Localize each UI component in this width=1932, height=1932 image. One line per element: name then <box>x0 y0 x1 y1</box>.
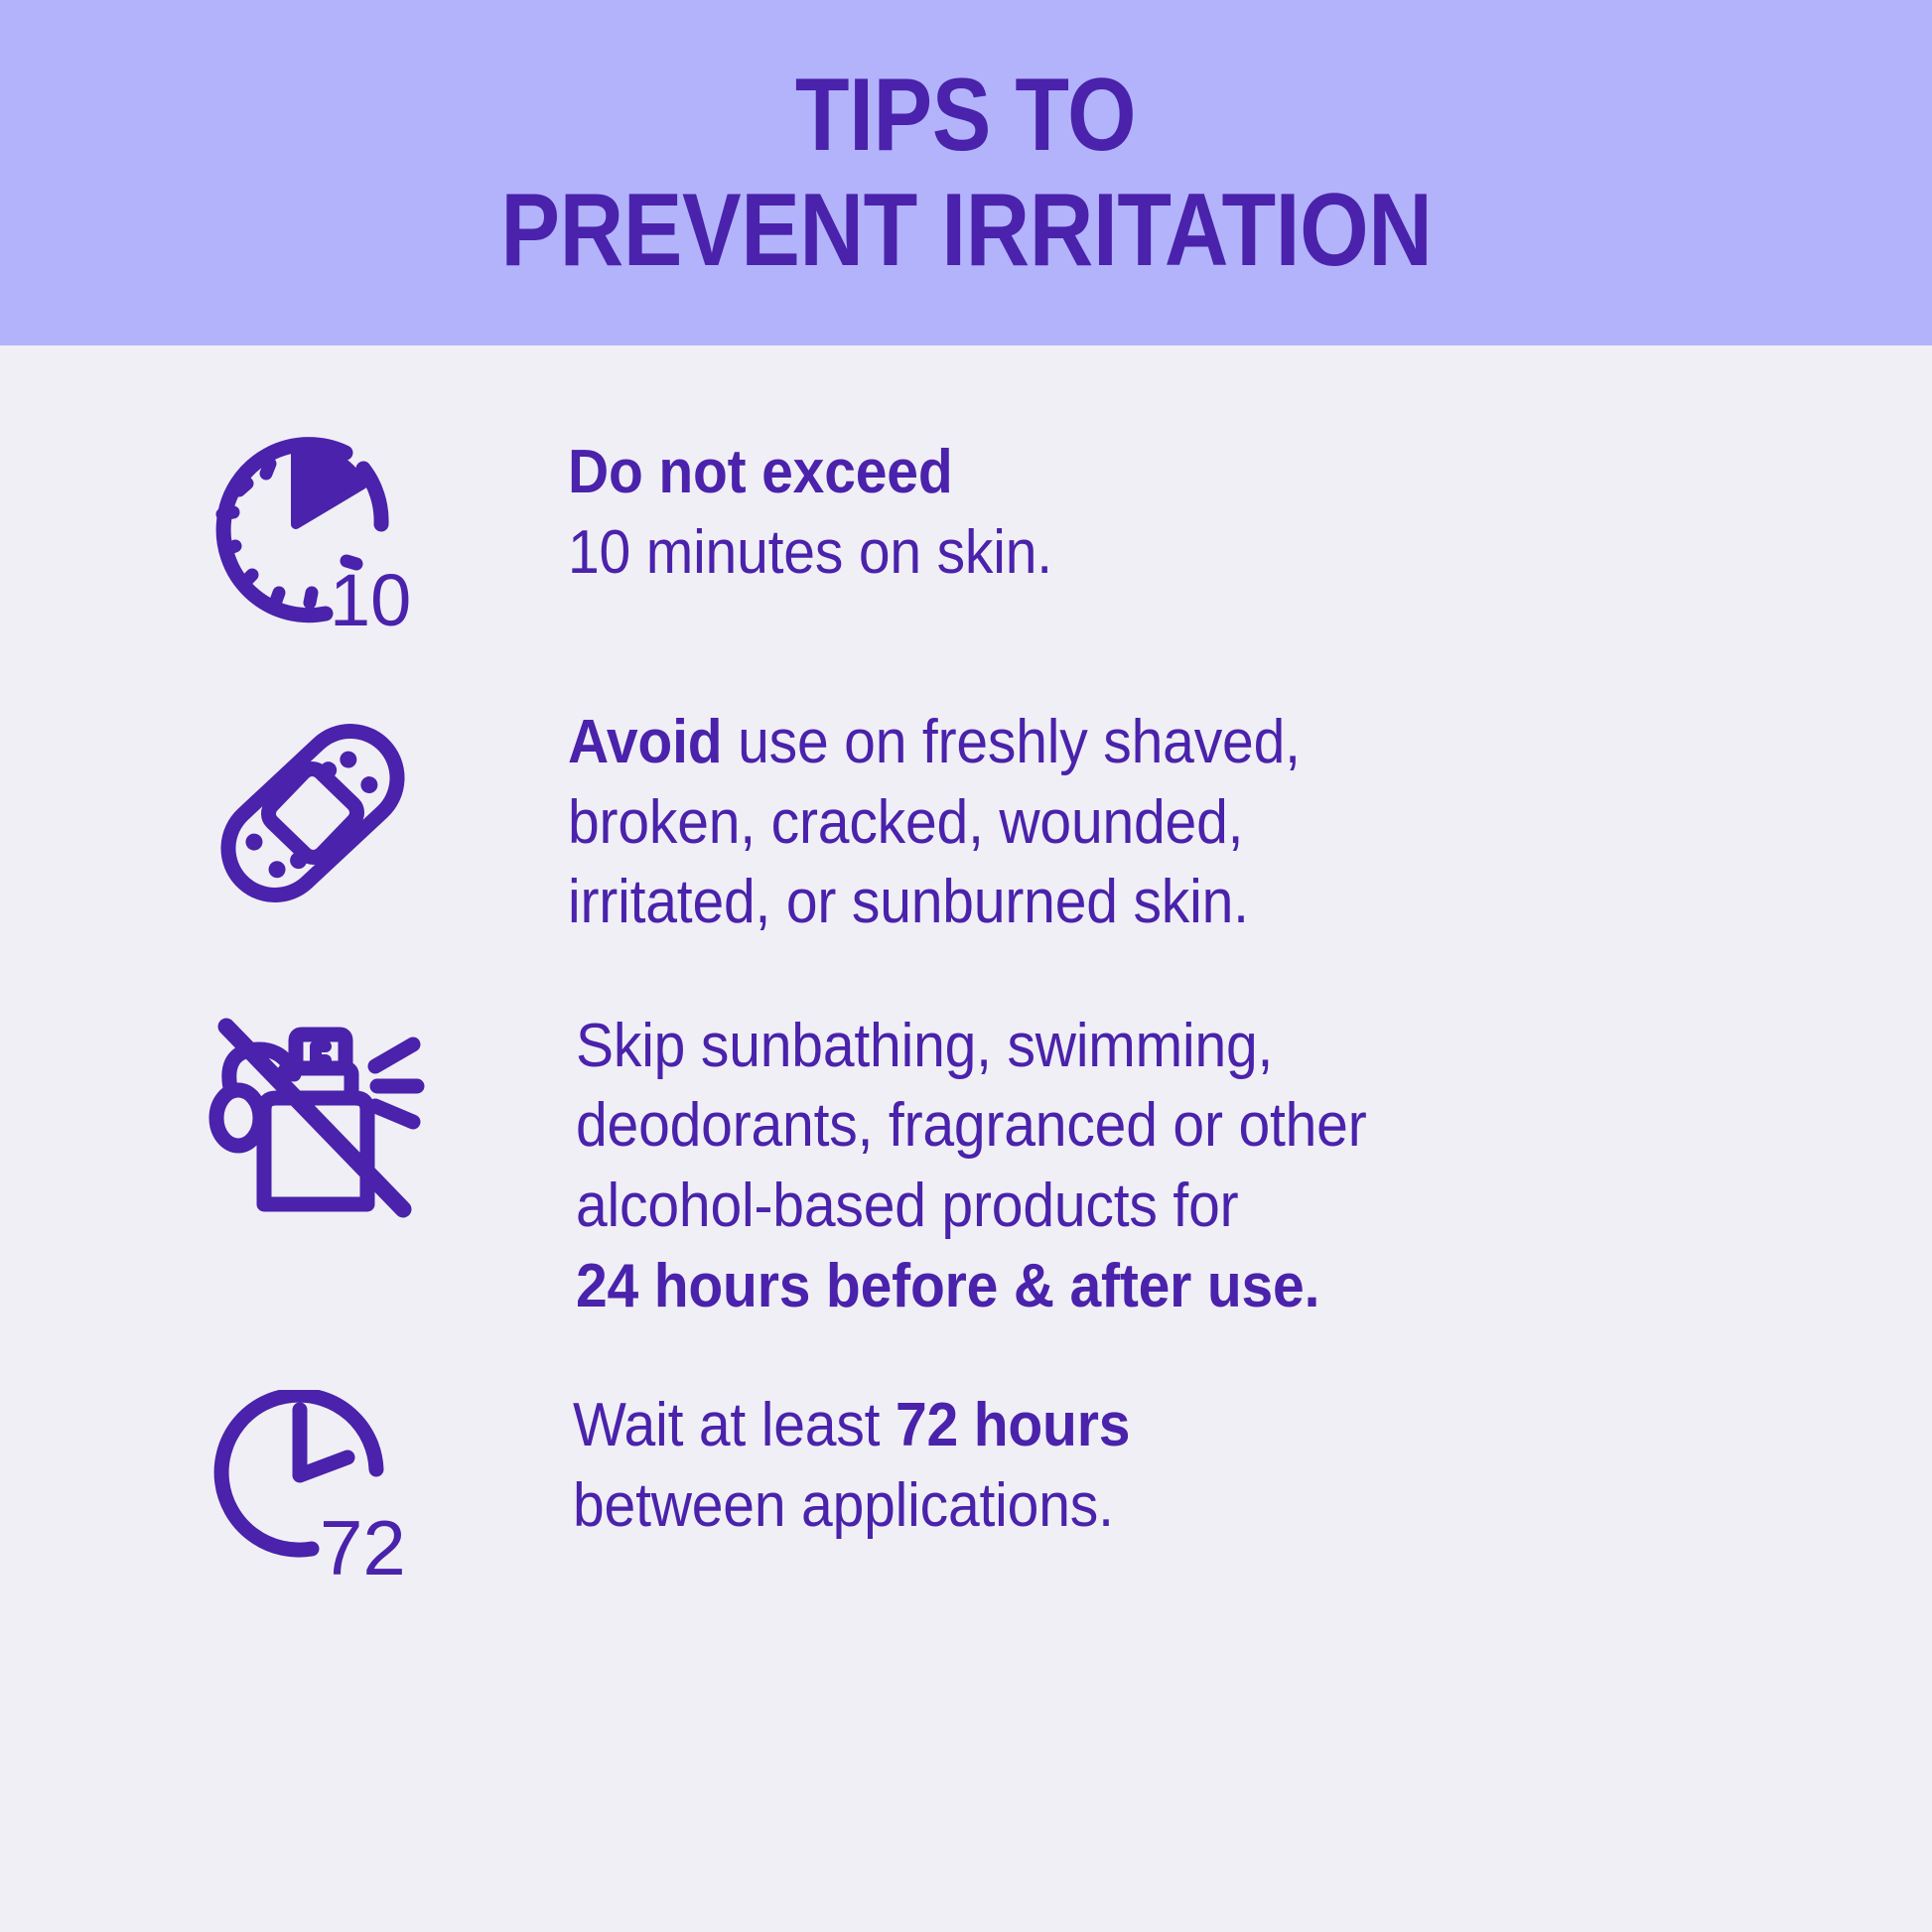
tip-item-wait-72-hours: 72 Wait at least 72 hours between applic… <box>149 1384 1783 1588</box>
tip-line: 10 minutes on skin. <box>568 513 1686 594</box>
tip-item-do-not-exceed: 10 Do not exceed 10 minutes on skin. <box>149 431 1783 635</box>
tip-line-bold: Avoid <box>568 708 722 776</box>
tip-line: broken, cracked, wounded, <box>568 783 1686 864</box>
tip-text-do-not-exceed: Do not exceed 10 minutes on skin. <box>568 433 1686 593</box>
tip-icon-cell <box>149 701 417 920</box>
stopwatch-badge-label: 10 <box>330 559 411 635</box>
tip-line: irritated, or sunburned skin. <box>568 863 1686 943</box>
tip-line-rest: use on freshly shaved, <box>722 708 1300 776</box>
page-title-line-1: TIPS TO <box>795 64 1136 167</box>
tip-line-bold: Do not exceed <box>568 438 952 506</box>
tip-item-avoid-broken-skin: Avoid use on freshly shaved, broken, cra… <box>149 701 1783 943</box>
tip-line: between applications. <box>573 1466 1686 1547</box>
tip-line-bold: 72 hours <box>896 1391 1130 1459</box>
tip-line: deodorants, fragranced or other <box>576 1086 1687 1167</box>
tip-text-skip-products: Skip sunbathing, swimming, deodorants, f… <box>576 1007 1687 1326</box>
tip-text-avoid-broken-skin: Avoid use on freshly shaved, broken, cra… <box>568 703 1686 943</box>
tip-line-rest: Wait at least <box>573 1391 896 1459</box>
tip-text-cell: Skip sunbathing, swimming, deodorants, f… <box>425 1005 1783 1326</box>
tip-item-skip-products: Skip sunbathing, swimming, deodorants, f… <box>149 1005 1783 1326</box>
clock-72-hours-icon: 72 <box>208 1390 422 1588</box>
infographic-poster: TIPS TO PREVENT IRRITATION <box>0 0 1932 1932</box>
tip-icon-cell <box>149 1005 425 1224</box>
header-band: TIPS TO PREVENT IRRITATION <box>0 0 1932 345</box>
bandage-icon <box>208 707 417 920</box>
tip-text-cell: Avoid use on freshly shaved, broken, cra… <box>417 701 1783 943</box>
no-spray-bottle-icon <box>208 1011 425 1224</box>
tip-icon-cell: 72 <box>149 1384 422 1588</box>
tip-line: Skip sunbathing, swimming, <box>576 1007 1687 1087</box>
tip-text-cell: Do not exceed 10 minutes on skin. <box>417 431 1783 593</box>
tip-text-wait-72-hours: Wait at least 72 hours between applicati… <box>573 1386 1686 1546</box>
clock-badge-label: 72 <box>320 1504 406 1588</box>
tip-text-cell: Wait at least 72 hours between applicati… <box>422 1384 1783 1546</box>
stopwatch-10-minutes-icon: 10 <box>208 437 417 635</box>
tip-line: alcohol-based products for <box>576 1167 1687 1247</box>
tip-line-bold: 24 hours before & after use. <box>576 1252 1319 1320</box>
page-title-line-2: PREVENT IRRITATION <box>500 179 1432 282</box>
tip-icon-cell: 10 <box>149 431 417 635</box>
tips-list: 10 Do not exceed 10 minutes on skin. <box>0 345 1932 1932</box>
